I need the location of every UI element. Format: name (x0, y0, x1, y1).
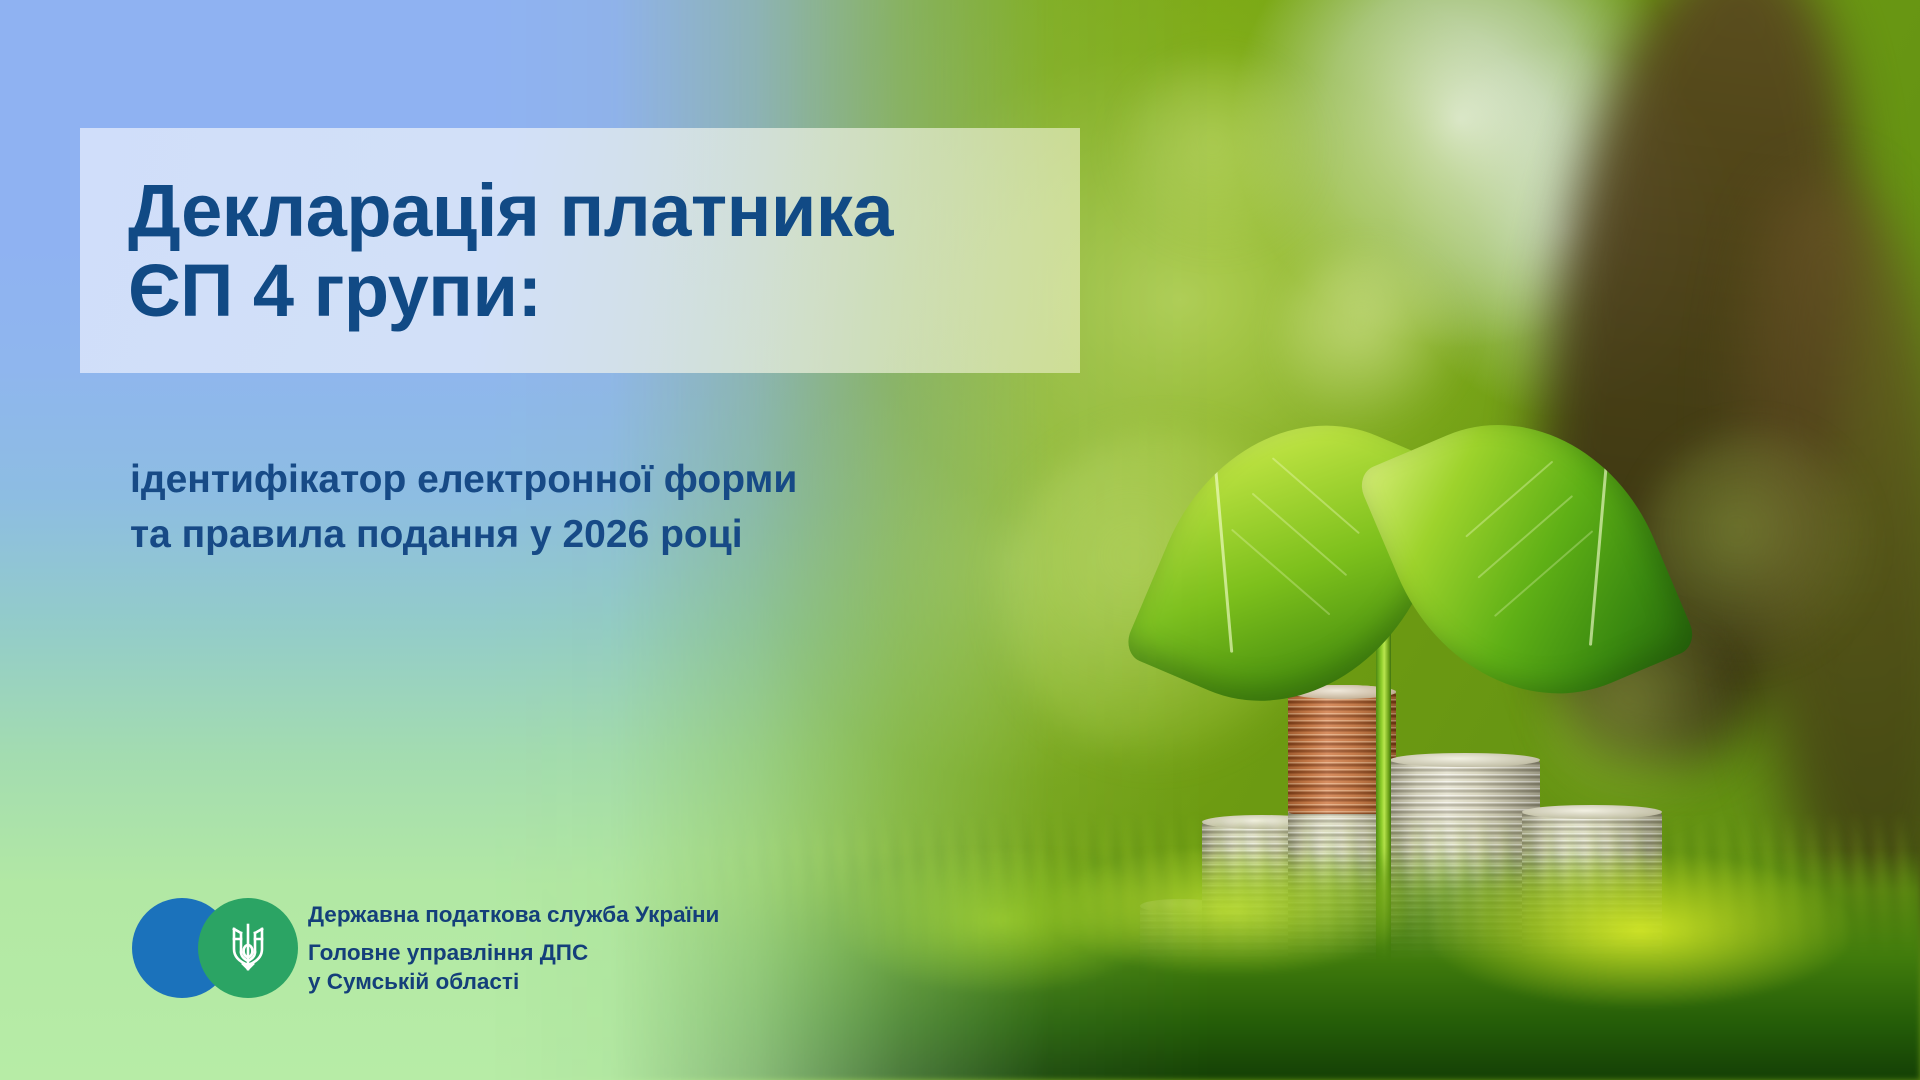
page-title: Декларація платника ЄП 4 групи: (128, 171, 893, 329)
footer-branding: Державна податкова служба України Головн… (132, 896, 719, 1000)
title-panel: Декларація платника ЄП 4 групи: (80, 128, 1080, 373)
footer-text-block: Державна податкова служба України Головн… (308, 900, 719, 997)
footer-department: Головне управління ДПС у Сумській област… (308, 938, 719, 997)
logo-green-circle-icon (198, 898, 298, 998)
logo (132, 896, 290, 1000)
plant-leaf-right (1387, 402, 1666, 719)
page-subtitle: ідентифікатор електронної форми та прави… (130, 452, 960, 563)
ukraine-trident-icon (225, 919, 271, 977)
footer-organization: Державна податкова служба України (308, 900, 719, 929)
banner-canvas: Декларація платника ЄП 4 групи: ідентифі… (0, 0, 1920, 1080)
